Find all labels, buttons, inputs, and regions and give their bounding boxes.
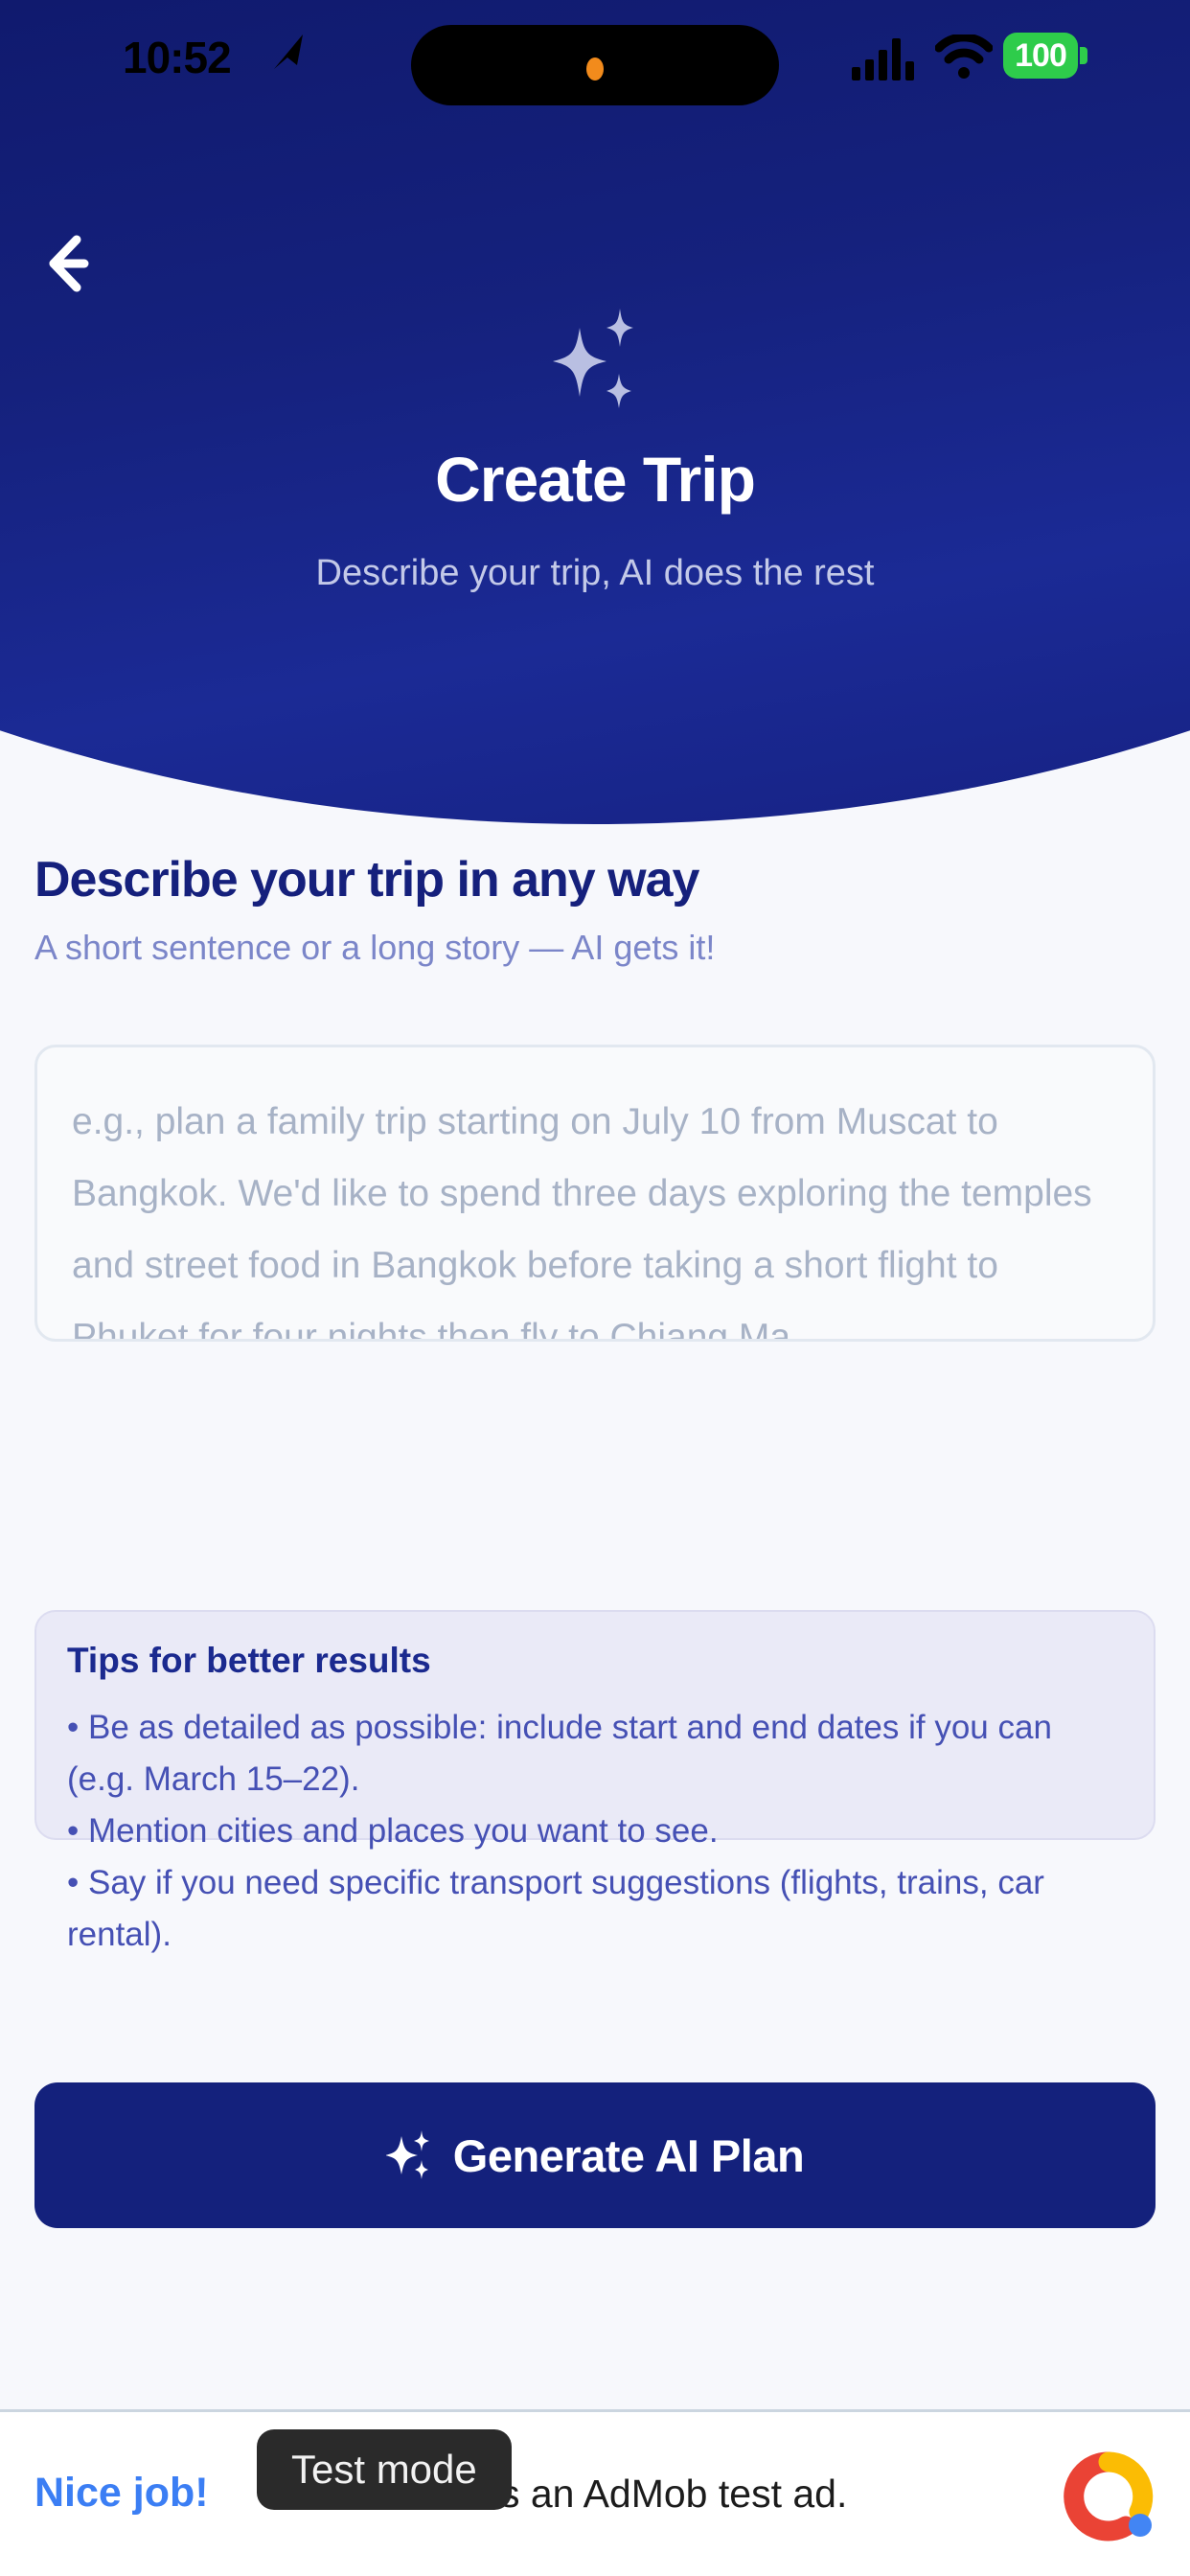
battery-percent-label: 100	[1015, 37, 1066, 75]
wifi-icon	[935, 34, 993, 79]
cellular-signal-icon	[852, 34, 915, 80]
tip-item: • Mention cities and places you want to …	[67, 1805, 1123, 1857]
location-arrow-icon	[268, 33, 307, 73]
create-trip-screen: 10:52 100	[0, 0, 1190, 2576]
tips-card: Tips for better results • Be as detailed…	[34, 1610, 1156, 1840]
test-mode-tooltip: Test mode	[257, 2429, 512, 2510]
trip-description-input[interactable]	[34, 1045, 1156, 1342]
island-indicator-dot	[586, 57, 604, 80]
generate-ai-plan-button[interactable]: Generate AI Plan	[34, 2082, 1156, 2228]
page-subtitle: Describe your trip, AI does the rest	[0, 553, 1190, 594]
sparkle-icon	[386, 2130, 432, 2180]
ad-headline: Nice job!	[34, 2470, 209, 2517]
section-heading: Describe your trip in any way	[34, 851, 698, 908]
generate-button-label: Generate AI Plan	[453, 2129, 804, 2182]
admob-logo-icon	[1059, 2449, 1158, 2548]
back-arrow-icon[interactable]	[40, 222, 123, 305]
tip-item: • Say if you need specific transport sug…	[67, 1857, 1123, 1961]
status-bar: 10:52 100	[0, 0, 1190, 113]
section-subheading: A short sentence or a long story — AI ge…	[34, 928, 715, 968]
sparkle-icon	[543, 307, 649, 412]
tip-item: • Be as detailed as possible: include st…	[67, 1702, 1123, 1805]
tips-title: Tips for better results	[67, 1641, 1123, 1681]
battery-nub	[1080, 47, 1087, 64]
battery-indicator: 100	[1003, 33, 1078, 79]
header-section: 10:52 100	[0, 0, 1190, 824]
header-background	[0, 0, 1190, 824]
page-title: Create Trip	[0, 443, 1190, 516]
status-bar-time: 10:52	[123, 32, 231, 83]
ad-banner[interactable]: Nice job! This is an AdMob test ad. Test…	[0, 2409, 1190, 2576]
